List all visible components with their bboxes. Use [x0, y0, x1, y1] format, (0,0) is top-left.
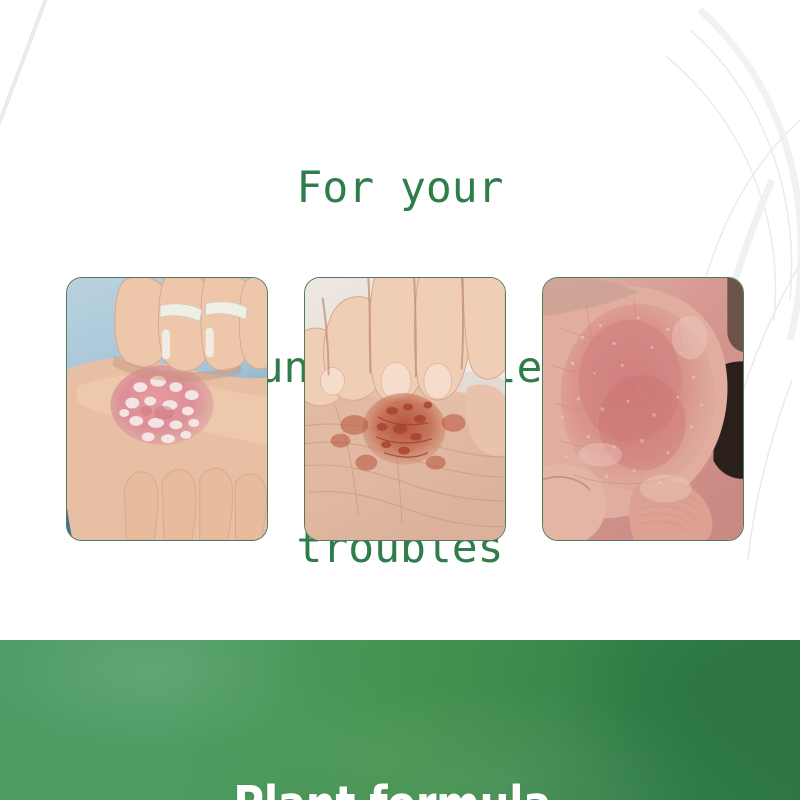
promo-banner-page: For your unspeakable troubles [0, 0, 800, 800]
photo-gallery [66, 277, 744, 541]
photo-card-fingers-scratching-irritated-skin[interactable] [304, 277, 506, 541]
photo-card-hand-with-psoriasis-plaque[interactable] [66, 277, 268, 541]
banner-line-1: Plant formula, [56, 776, 744, 800]
photo-card-inflamed-red-skin-closeup[interactable] [542, 277, 744, 541]
banner-claim-text: Plant formula, safe and non-irritating [56, 640, 744, 800]
bottom-claim-banner: Plant formula, safe and non-irritating [0, 640, 800, 800]
headline-line-1: For your [0, 158, 800, 218]
